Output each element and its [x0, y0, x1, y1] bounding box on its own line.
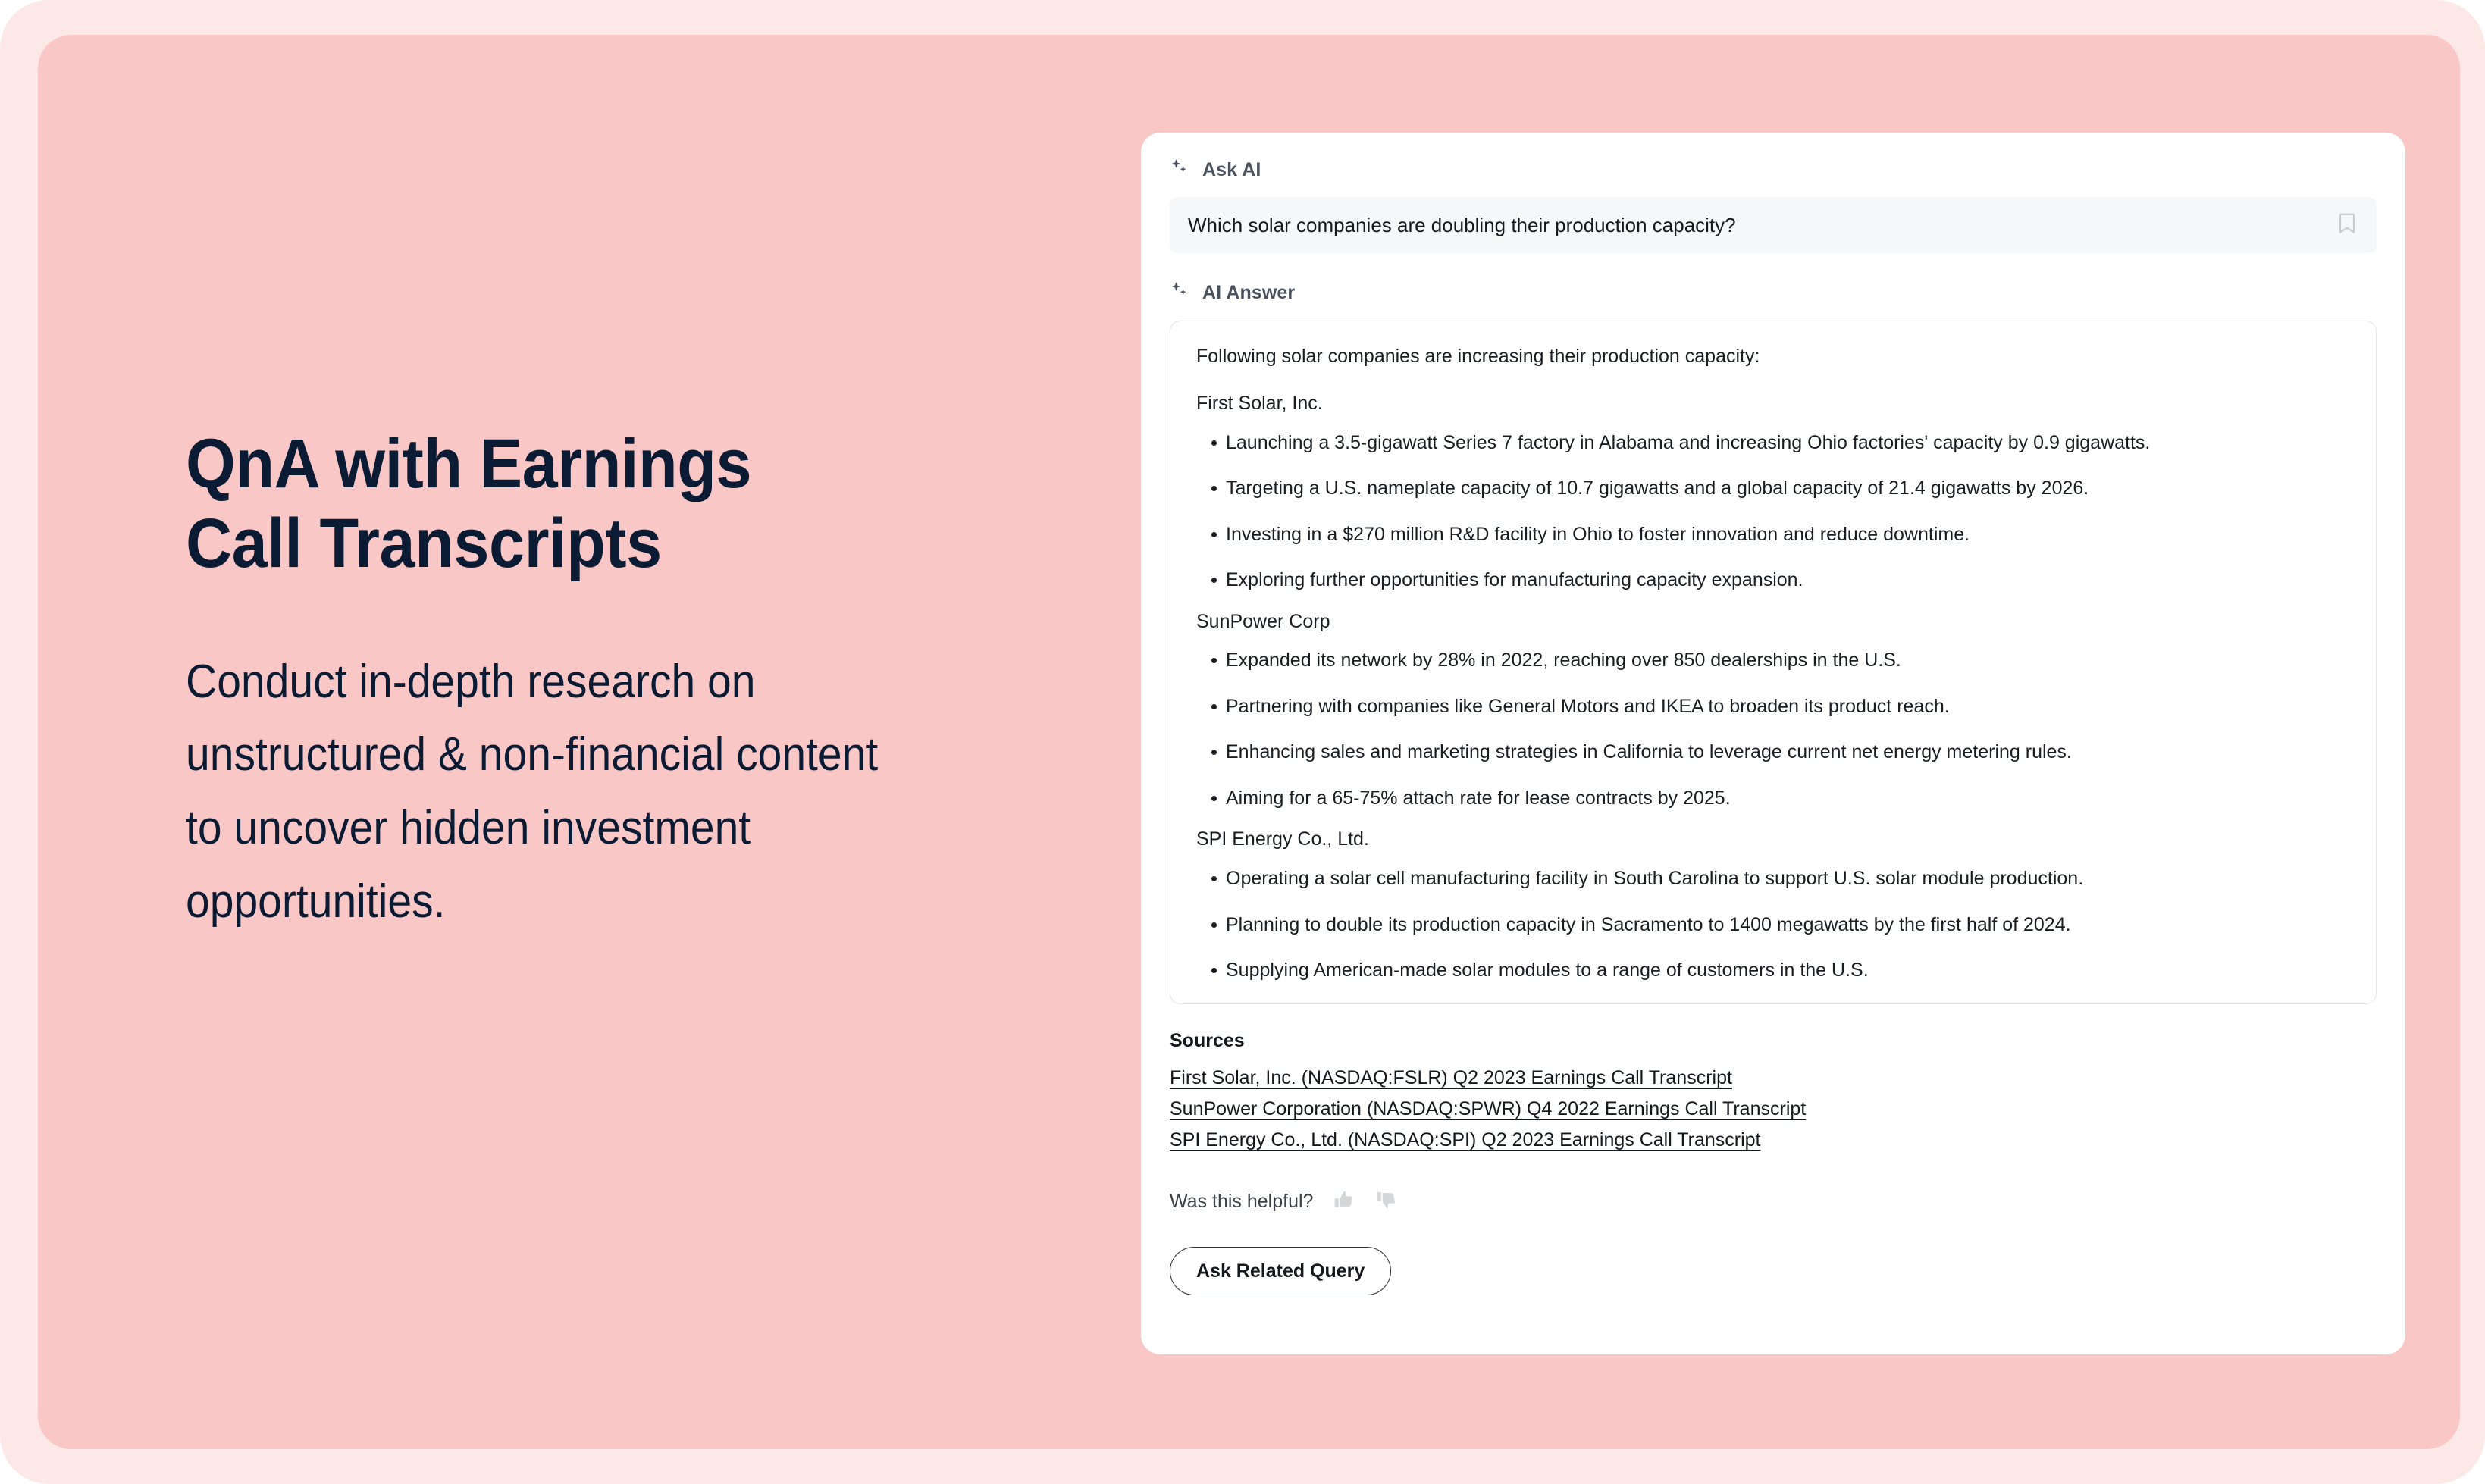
ask-ai-section-label: Ask AI [1170, 155, 2377, 184]
ai-answer-section-label: AI Answer [1170, 278, 2377, 307]
answer-bullet: Investing in a $270 million R&D facility… [1196, 522, 2350, 547]
answer-bullet: Supplying American-made solar modules to… [1196, 958, 2350, 983]
answer-bullet: Operating a solar cell manufacturing fac… [1196, 866, 2350, 891]
answer-company-name: First Solar, Inc. [1196, 391, 2350, 417]
feedback-row: Was this helpful? [1170, 1186, 2377, 1216]
thumbs-down-icon[interactable] [1375, 1188, 1398, 1215]
answer-bullet: Expanded its network by 28% in 2022, rea… [1196, 648, 2350, 673]
thumbs-up-icon[interactable] [1333, 1188, 1355, 1215]
page-title: QnA with Earnings Call Transcripts [186, 424, 925, 584]
answer-bullet-list: Launching a 3.5-gigawatt Series 7 factor… [1196, 430, 2350, 593]
page-title-line-1: QnA with Earnings [186, 425, 751, 502]
answer-group: SPI Energy Co., Ltd. Operating a solar c… [1196, 827, 2350, 982]
query-input[interactable]: Which solar companies are doubling their… [1170, 197, 2377, 253]
answer-bullet: Aiming for a 65-75% attach rate for leas… [1196, 786, 2350, 811]
ai-answer-label: AI Answer [1202, 282, 1295, 304]
source-link[interactable]: SunPower Corporation (NASDAQ:SPWR) Q4 20… [1170, 1094, 1806, 1125]
ask-ai-card: Ask AI Which solar companies are doublin… [1141, 133, 2405, 1354]
answer-bullet: Planning to double its production capaci… [1196, 913, 2350, 938]
hero-copy: QnA with Earnings Call Transcripts Condu… [186, 424, 989, 939]
answer-bullet: Partnering with companies like General M… [1196, 694, 2350, 719]
ask-ai-label: Ask AI [1202, 159, 1261, 181]
answer-bullet-list: Expanded its network by 28% in 2022, rea… [1196, 648, 2350, 810]
answer-company-name: SunPower Corp [1196, 609, 2350, 635]
answer-bullet: Launching a 3.5-gigawatt Series 7 factor… [1196, 430, 2350, 456]
sparkle-icon [1170, 280, 1189, 305]
source-link[interactable]: SPI Energy Co., Ltd. (NASDAQ:SPI) Q2 202… [1170, 1125, 1761, 1156]
answer-group: SunPower Corp Expanded its network by 28… [1196, 609, 2350, 811]
feedback-question: Was this helpful? [1170, 1191, 1313, 1213]
answer-bullet: Enhancing sales and marketing strategies… [1196, 740, 2350, 765]
answer-group: First Solar, Inc. Launching a 3.5-gigawa… [1196, 391, 2350, 593]
answer-bullet: Exploring further opportunities for manu… [1196, 568, 2350, 593]
answer-company-name: SPI Energy Co., Ltd. [1196, 827, 2350, 853]
source-link[interactable]: First Solar, Inc. (NASDAQ:FSLR) Q2 2023 … [1170, 1063, 1732, 1094]
query-input-value[interactable]: Which solar companies are doubling their… [1188, 215, 2337, 235]
answer-lead-text: Following solar companies are increasing… [1196, 344, 2350, 370]
screenshot-root: QnA with Earnings Call Transcripts Condu… [0, 0, 2485, 1484]
ai-answer-body: Following solar companies are increasing… [1170, 321, 2377, 1004]
bookmark-icon[interactable] [2337, 212, 2357, 239]
answer-bullet: Targeting a U.S. nameplate capacity of 1… [1196, 476, 2350, 501]
answer-bullet-list: Operating a solar cell manufacturing fac… [1196, 866, 2350, 983]
page-title-line-2: Call Transcripts [186, 505, 662, 582]
sources-list: First Solar, Inc. (NASDAQ:FSLR) Q2 2023 … [1170, 1063, 2377, 1156]
ask-related-query-button[interactable]: Ask Related Query [1170, 1247, 1391, 1295]
sources-heading: Sources [1170, 1030, 2377, 1052]
hero-subtitle: Conduct in-depth research on unstructure… [186, 584, 925, 939]
sparkle-icon [1170, 158, 1189, 183]
